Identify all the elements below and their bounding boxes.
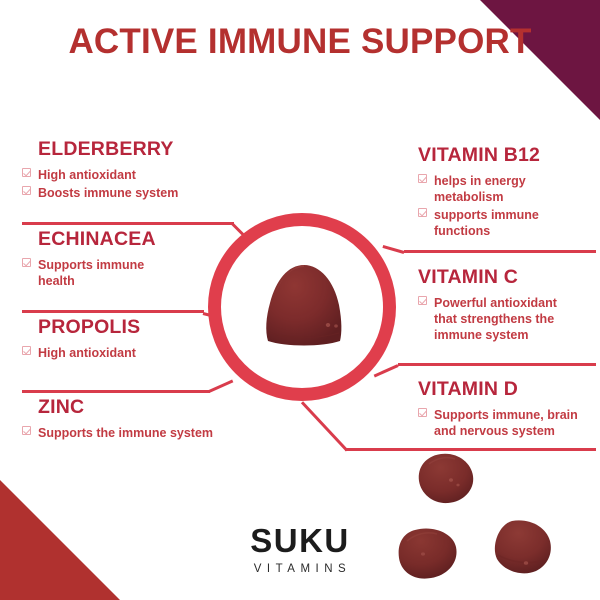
benefit-text: helps in energy metabolism [434,174,526,204]
benefit-text: Supports the immune system [38,426,213,440]
nutrient-heading: ECHINACEA [38,230,163,250]
nutrient-heading: ZINC [38,398,213,418]
checkbox-icon [22,346,31,355]
nutrient-benefit-list: helps in energy metabolism supports immu… [418,173,554,239]
gummy-piece-icon [417,452,475,504]
page-title: ACTIVE IMMUNE SUPPORT [0,22,600,63]
nutrient-benefit-list: High antioxidant Boosts immune system [22,167,178,201]
checkbox-icon [22,168,31,177]
benefit-text: Supports immune, brain and nervous syste… [434,408,578,438]
brand-logo: SUKU VITAMINS [0,524,600,576]
connector-left-3 [208,380,233,393]
benefit-text: Powerful antioxidant that strengthens th… [434,296,557,342]
list-item: helps in energy metabolism [418,173,549,205]
divider-left-1 [22,222,234,225]
nutrient-block-vitamin-d: VITAMIN D Supports immune, brain and ner… [418,380,589,441]
nutrient-block-zinc: ZINC Supports the immune system [22,398,213,443]
checkbox-icon [22,258,31,267]
connector-right-2 [374,364,399,377]
connector-right-1 [382,245,404,254]
nutrient-block-vitamin-c: VITAMIN C Powerful antioxidant that stre… [418,268,582,345]
list-item: Supports the immune system [22,425,213,441]
nutrient-benefit-list: Supports the immune system [22,425,213,441]
list-item: High antioxidant [22,167,178,183]
nutrient-benefit-list: Supports immune, brain and nervous syste… [418,407,589,439]
benefit-text: Boosts immune system [38,186,178,200]
nutrient-benefit-list: High antioxidant [22,345,140,361]
nutrient-block-echinacea: ECHINACEA Supports immune health [22,230,163,291]
benefit-text: High antioxidant [38,346,136,360]
nutrient-heading: ELDERBERRY [38,140,178,160]
benefit-text: supports immune functions [434,208,539,238]
connector-right-3 [301,401,348,451]
nutrient-benefit-list: Supports immune health [22,257,163,289]
divider-right-1 [404,250,596,253]
benefit-text: High antioxidant [38,168,136,182]
divider-left-3 [22,390,210,393]
checkbox-icon [418,208,427,217]
nutrient-benefit-list: Powerful antioxidant that strengthens th… [418,295,582,343]
benefit-text: Supports immune health [38,258,144,288]
checkbox-icon [418,174,427,183]
list-item: Boosts immune system [22,185,178,201]
list-item: Supports immune health [22,257,163,289]
checkbox-icon [418,408,427,417]
checkbox-icon [22,426,31,435]
nutrient-heading: VITAMIN C [418,268,582,288]
nutrient-block-vitamin-b12: VITAMIN B12 helps in energy metabolism s… [418,146,554,241]
brand-tagline: VITAMINS [0,564,600,576]
checkbox-icon [418,296,427,305]
nutrient-heading: VITAMIN D [418,380,589,400]
nutrient-block-elderberry: ELDERBERRY High antioxidant Boosts immun… [22,140,178,203]
nutrient-heading: PROPOLIS [38,318,140,338]
list-item: supports immune functions [418,207,554,239]
divider-right-3 [345,448,596,451]
list-item: High antioxidant [22,345,140,361]
divider-right-2 [398,363,596,366]
list-item: Powerful antioxidant that strengthens th… [418,295,582,343]
brand-name: SUKU [0,524,600,557]
divider-left-2 [22,310,204,313]
checkbox-icon [22,186,31,195]
nutrient-block-propolis: PROPOLIS High antioxidant [22,318,140,363]
gummy-vitamin-icon [262,263,346,351]
nutrient-heading: VITAMIN B12 [418,146,554,166]
infographic-poster: ACTIVE IMMUNE SUPPORT ELDERBERRY High an… [0,0,600,600]
list-item: Supports immune, brain and nervous syste… [418,407,589,439]
